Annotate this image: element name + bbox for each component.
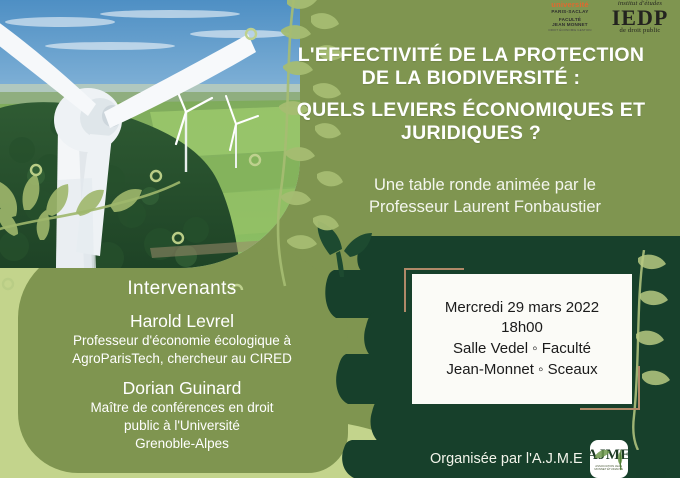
- saclay-logo-line5: DROIT ÉCONOMIE GESTION: [542, 29, 598, 32]
- event-venue-line-1: Salle Vedel ◦ Faculté: [453, 339, 591, 360]
- iedp-logo-acronym: IEDP: [604, 7, 676, 29]
- title-line-2: DE LA BIODIVERSITÉ :: [262, 67, 680, 90]
- poster-subtitle: Une table ronde animée par le Professeur…: [290, 175, 680, 219]
- wind-turbine-photo: [0, 0, 300, 268]
- speaker-name: Dorian Guinard: [8, 378, 356, 398]
- event-poster: université PARIS-SACLAY FACULTÉ JEAN MON…: [0, 0, 680, 478]
- speaker-role-line: Professeur d'économie écologique à: [8, 333, 356, 349]
- organiser-section: Organisée par l'A.J.M.E AJME ASSOCIATION…: [430, 440, 628, 478]
- speakers-section: Intervenants Harold Levrel Professeur d'…: [8, 278, 356, 452]
- subtitle-line-1: Une table ronde animée par le: [290, 175, 680, 197]
- title-line-4: JURIDIQUES ?: [262, 122, 680, 145]
- event-date: Mercredi 29 mars 2022: [445, 298, 599, 319]
- speaker-role-line: public à l'Université: [8, 418, 356, 434]
- speaker-role-line: Maître de conférences en droit: [8, 400, 356, 416]
- event-details-card: Mercredi 29 mars 2022 18h00 Salle Vedel …: [404, 268, 640, 410]
- logo-group: université PARIS-SACLAY FACULTÉ JEAN MON…: [542, 1, 676, 34]
- speaker-entry: Harold Levrel Professeur d'économie écol…: [8, 311, 356, 368]
- speaker-role-line: Grenoble-Alpes: [8, 436, 356, 452]
- speakers-heading: Intervenants: [8, 278, 356, 300]
- title-line-1: L'EFFECTIVITÉ DE LA PROTECTION: [262, 44, 680, 67]
- speaker-role-line: AgroParisTech, chercheur au CIRED: [8, 351, 356, 367]
- speaker-entry: Dorian Guinard Maître de conférences en …: [8, 378, 356, 453]
- saclay-logo-line1: université: [542, 1, 598, 9]
- event-details-card-body: Mercredi 29 mars 2022 18h00 Salle Vedel …: [412, 274, 632, 404]
- saclay-logo-line4: JEAN MONNET: [542, 23, 598, 28]
- event-time: 18h00: [501, 318, 543, 339]
- subtitle-line-2: Professeur Laurent Fonbaustier: [290, 197, 680, 219]
- poster-title: L'EFFECTIVITÉ DE LA PROTECTION DE LA BIO…: [262, 44, 680, 145]
- title-line-3: QUELS LEVIERS ÉCONOMIQUES ET: [262, 99, 680, 122]
- saclay-logo-line2: PARIS-SACLAY: [542, 10, 598, 15]
- organiser-text: Organisée par l'A.J.M.E: [430, 451, 583, 467]
- speaker-name: Harold Levrel: [8, 311, 356, 331]
- universite-paris-saclay-logo: université PARIS-SACLAY FACULTÉ JEAN MON…: [542, 1, 598, 32]
- iedp-logo: institut d'études IEDP de droit public: [604, 1, 676, 34]
- ajme-logo: AJME ASSOCIATION JEAN MONNET ÉTUDIANTS: [590, 440, 628, 478]
- event-venue-line-2: Jean-Monnet ◦ Sceaux: [446, 360, 597, 381]
